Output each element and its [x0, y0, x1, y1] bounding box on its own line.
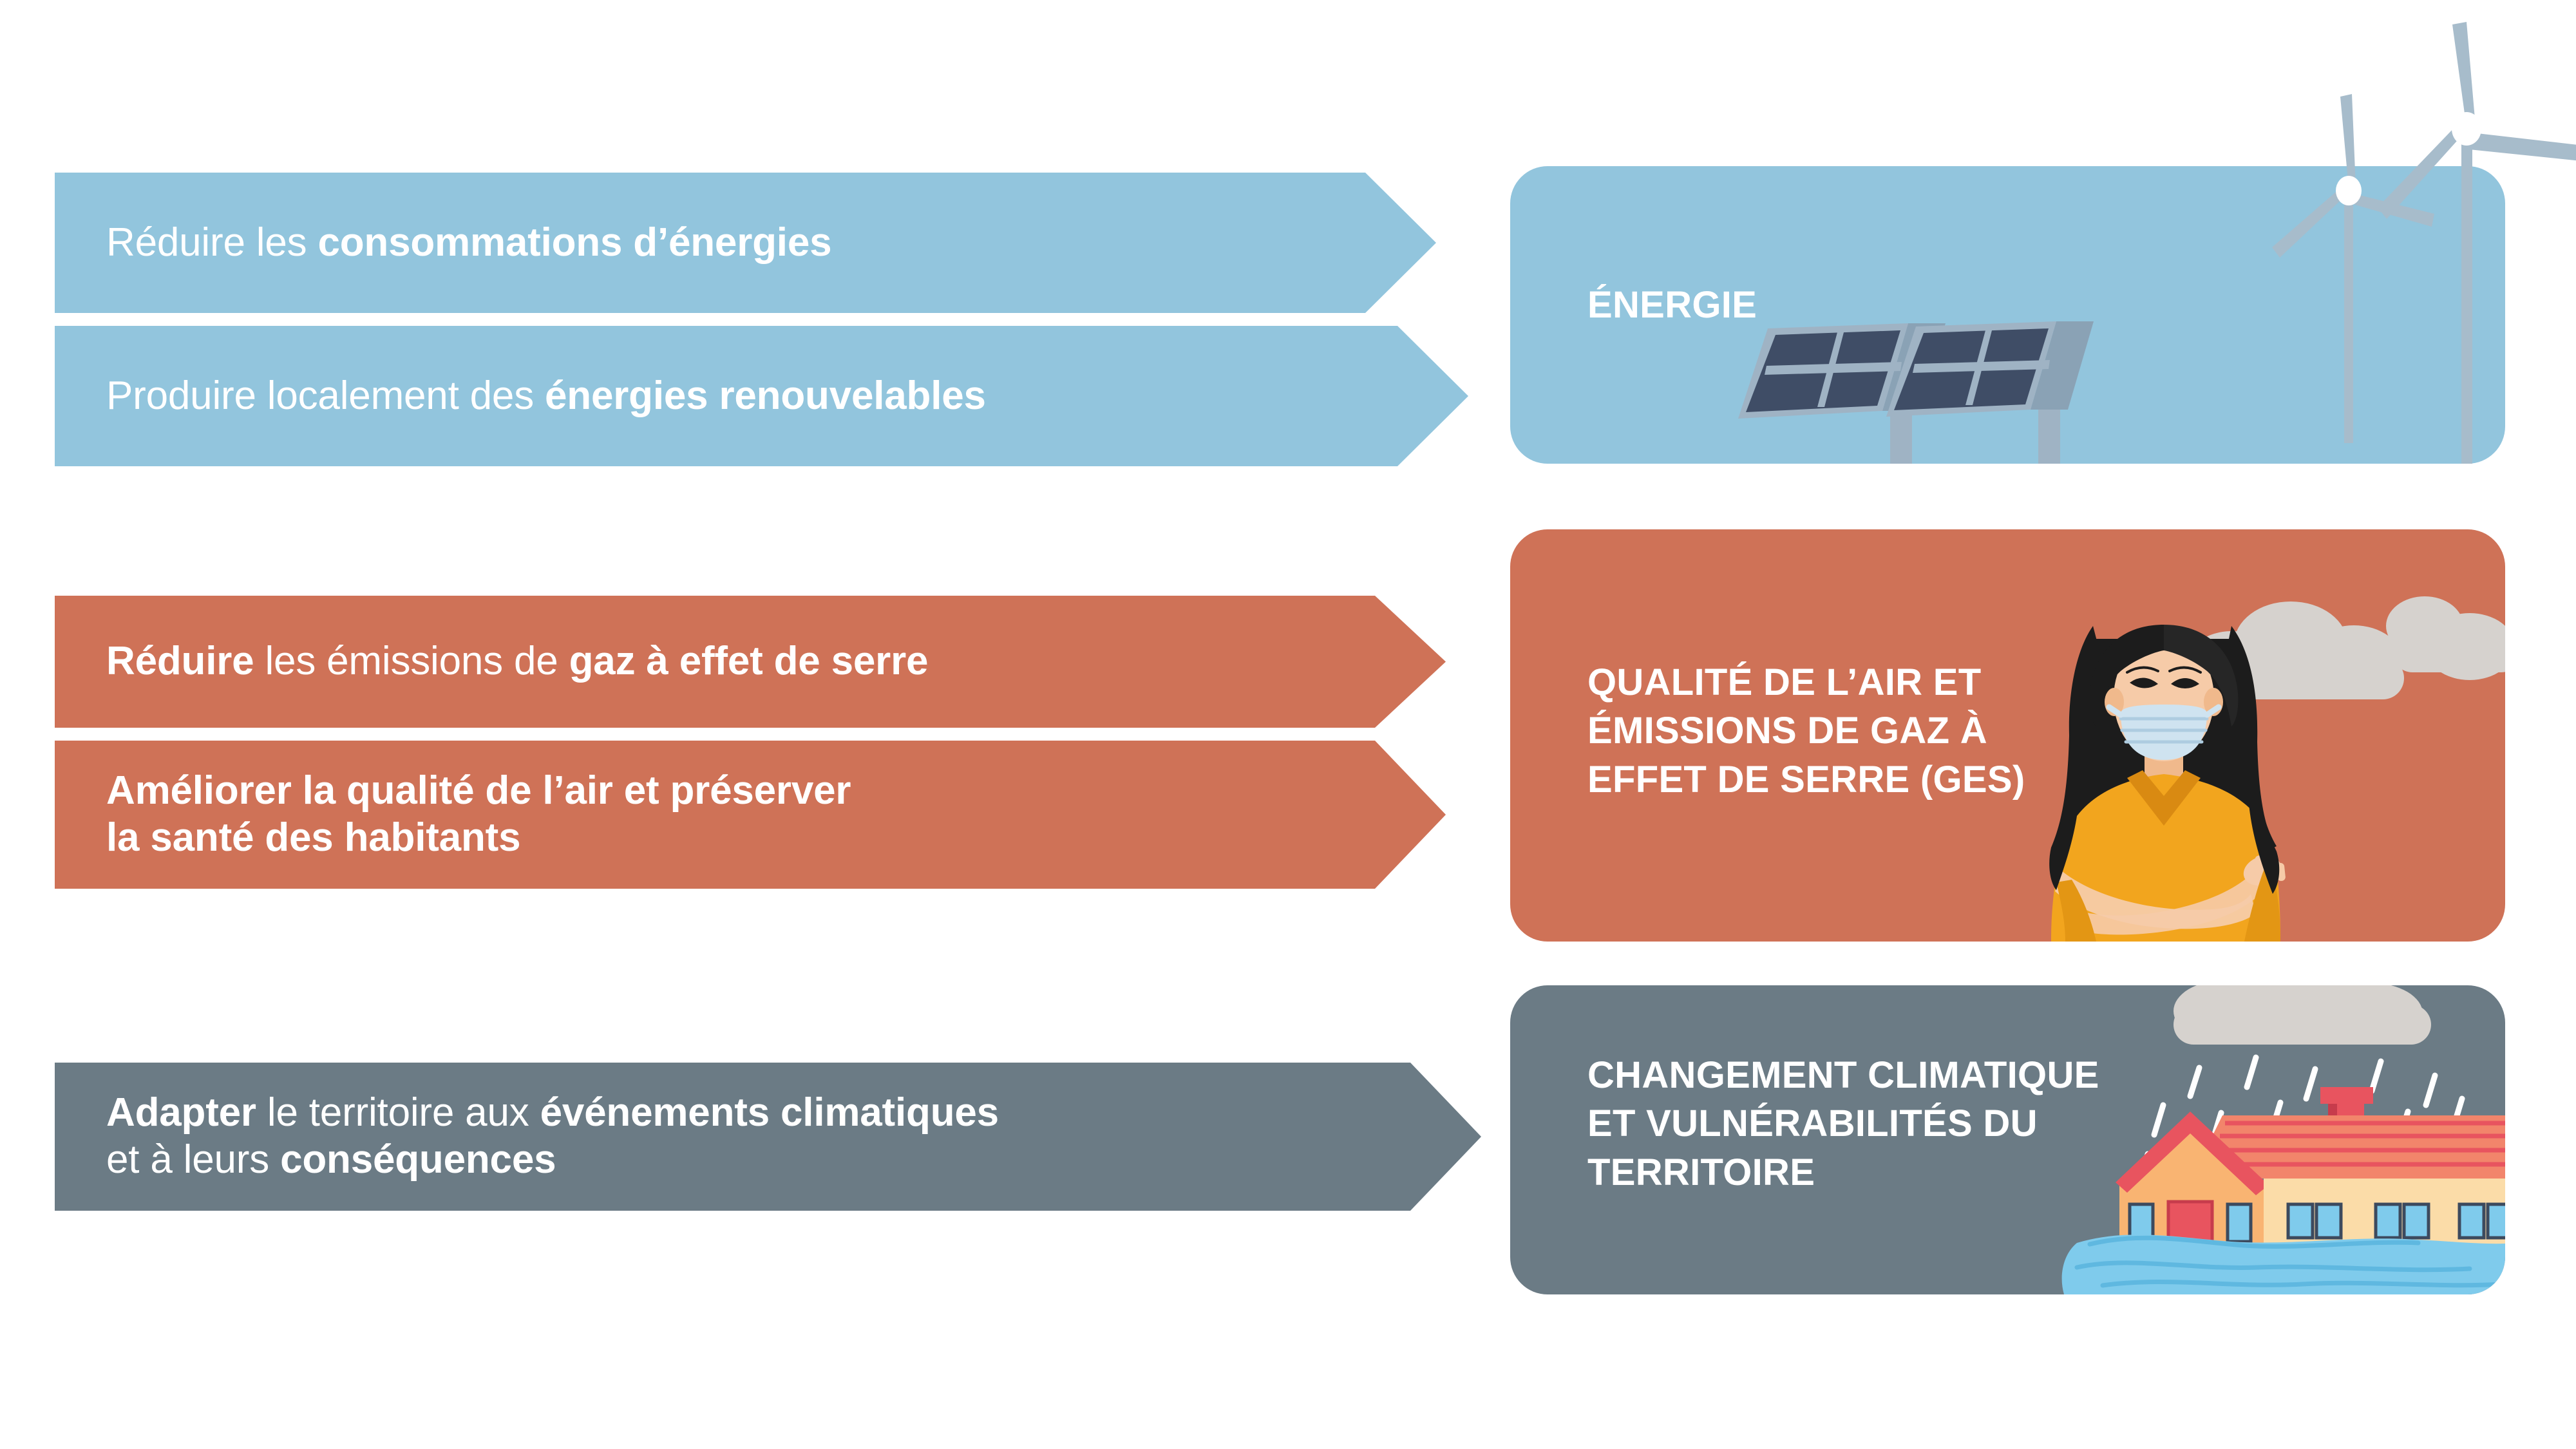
- theme-panel-changement-climatique[interactable]: CHANGEMENT CLIMATIQUE ET VULNÉRABILITÉS …: [1510, 985, 2505, 1294]
- arrow-label-produire-enr: Produire localement des énergies renouve…: [55, 373, 1070, 420]
- theme-label-qualite-air: QUALITÉ DE L’AIR ET ÉMISSIONS DE GAZ À E…: [1587, 658, 2025, 804]
- rain-streaks: [2139, 1057, 2462, 1287]
- arrow-label-ameliorer-qualite-air: Améliorer la qualité de l’air et préserv…: [55, 768, 934, 861]
- arrow-ameliorer-qualite-air[interactable]: Améliorer la qualité de l’air et préserv…: [55, 741, 1446, 889]
- theme-label-changement-climatique: CHANGEMENT CLIMATIQUE ET VULNÉRABILITÉS …: [1587, 1051, 2099, 1197]
- arrow-label-adapter-territoire: Adapter le territoire aux événements cli…: [55, 1090, 1083, 1183]
- theme-panel-qualite-air[interactable]: QUALITÉ DE L’AIR ET ÉMISSIONS DE GAZ À E…: [1510, 529, 2505, 942]
- theme-label-energie: ÉNERGIE: [1587, 281, 1757, 329]
- arrow-adapter-territoire[interactable]: Adapter le territoire aux événements cli…: [55, 1063, 1481, 1211]
- infographic-canvas: Réduire les consommations d’énergies Pro…: [0, 0, 2576, 1449]
- storm-cloud-shape: [2173, 985, 2431, 1045]
- cloud-shape: [2185, 596, 2505, 699]
- arrow-produire-enr[interactable]: Produire localement des énergies renouve…: [55, 326, 1468, 466]
- arrow-label-reduire-ges: Réduire les émissions de gaz à effet de …: [55, 638, 1012, 685]
- arrow-reduire-consommations[interactable]: Réduire les consommations d’énergies: [55, 173, 1436, 313]
- arrow-label-reduire-consommations: Réduire les consommations d’énergies: [55, 220, 915, 267]
- arrow-reduire-ges[interactable]: Réduire les émissions de gaz à effet de …: [55, 596, 1446, 728]
- theme-panel-energie[interactable]: ÉNERGIE: [1510, 166, 2505, 464]
